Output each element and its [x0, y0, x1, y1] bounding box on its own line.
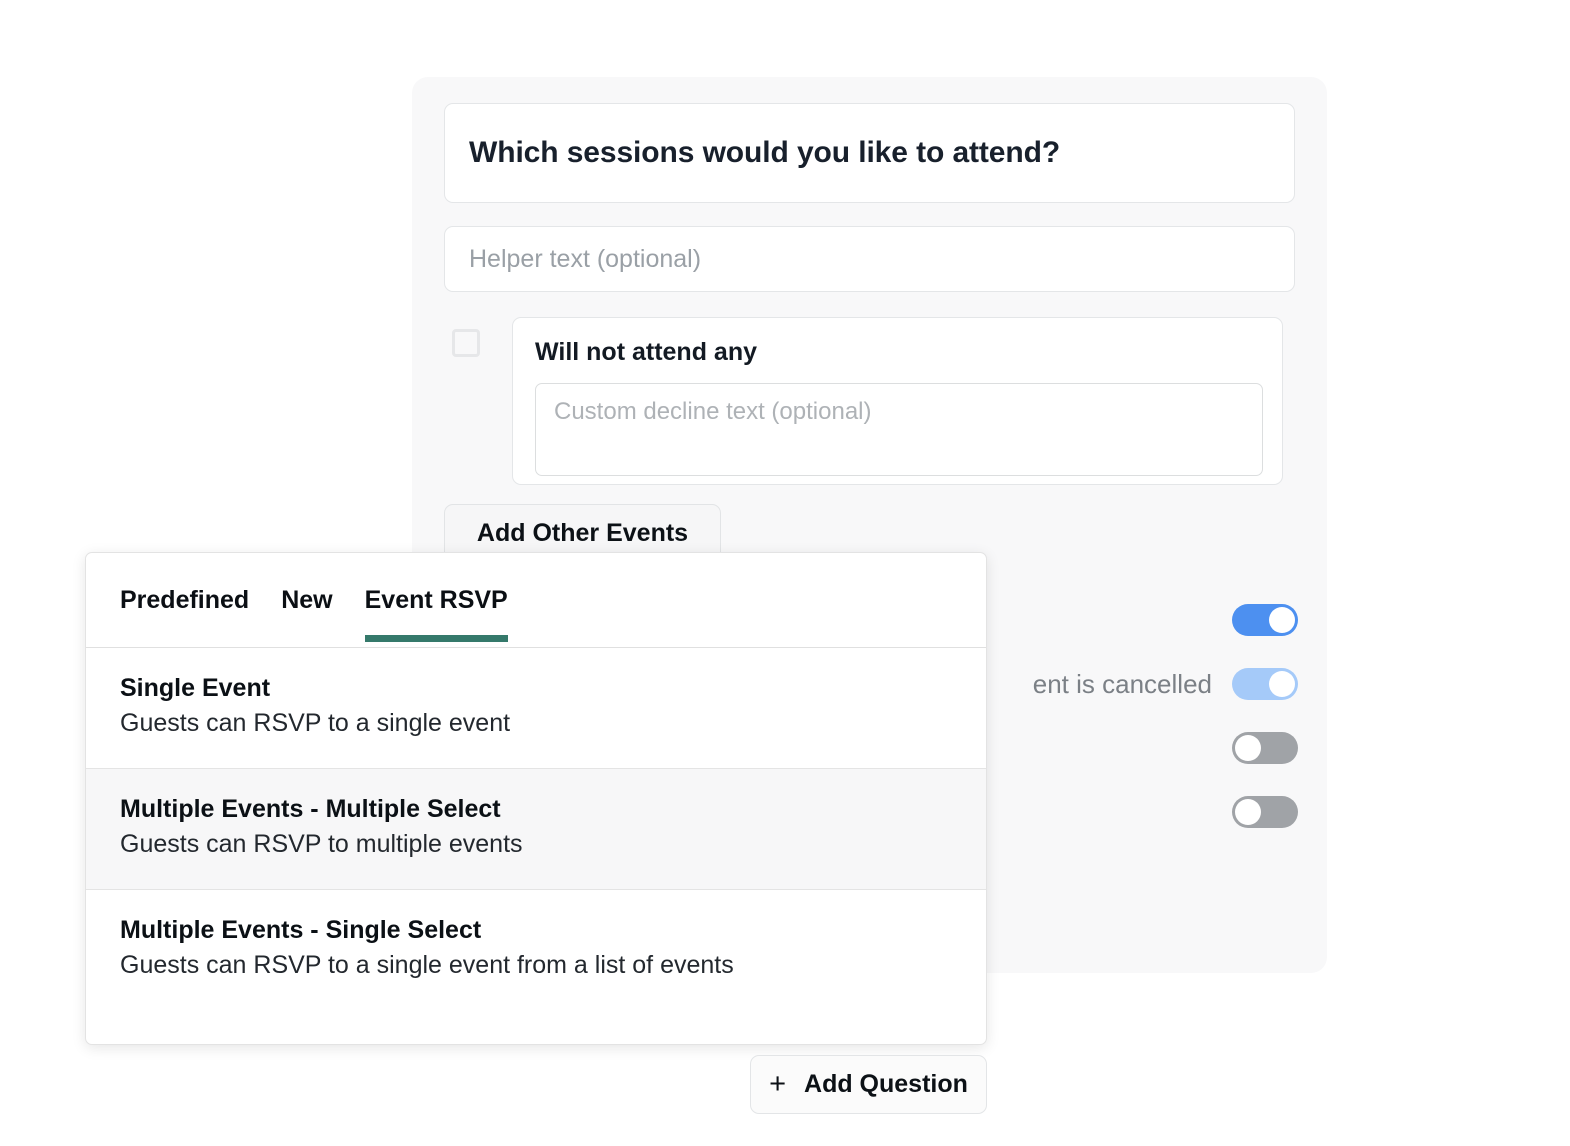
option-description: Guests can RSVP to a single event	[120, 709, 952, 738]
option-title: Multiple Events - Single Select	[120, 916, 952, 945]
add-question-button[interactable]: + Add Question	[750, 1055, 987, 1114]
toggle-knob	[1269, 607, 1295, 633]
option-multiple-events-multiple-select[interactable]: Multiple Events - Multiple Select Guests…	[86, 769, 986, 890]
custom-decline-text-input[interactable]: Custom decline text (optional)	[535, 383, 1263, 476]
option-title: Single Event	[120, 674, 952, 703]
question-title-input[interactable]: Which sessions would you like to attend?	[444, 103, 1295, 203]
tab-new-label: New	[281, 586, 332, 615]
option-single-event[interactable]: Single Event Guests can RSVP to a single…	[86, 648, 986, 769]
tab-predefined-label: Predefined	[120, 586, 249, 615]
question-type-dropdown: Predefined New Event RSVP Single Event G…	[85, 552, 987, 1045]
tab-new[interactable]: New	[281, 553, 332, 648]
setting-label-2: ent is cancelled	[1033, 669, 1212, 700]
decline-option-label: Will not attend any	[535, 338, 1260, 367]
add-question-label: Add Question	[804, 1070, 968, 1099]
toggle-knob	[1269, 671, 1295, 697]
setting-toggle-1[interactable]	[1232, 604, 1298, 636]
custom-decline-text-placeholder: Custom decline text (optional)	[554, 398, 871, 425]
option-title: Multiple Events - Multiple Select	[120, 795, 952, 824]
decline-option-row: Will not attend any Custom decline text …	[444, 317, 1295, 487]
add-other-events-label: Add Other Events	[477, 519, 688, 548]
plus-icon: +	[769, 1070, 786, 1099]
tab-event-rsvp-label: Event RSVP	[365, 586, 508, 615]
dropdown-tabs: Predefined New Event RSVP	[86, 553, 986, 648]
setting-toggle-3[interactable]	[1232, 732, 1298, 764]
helper-text-input[interactable]: Helper text (optional)	[444, 226, 1295, 292]
question-title-text: Which sessions would you like to attend?	[469, 136, 1060, 170]
option-description: Guests can RSVP to multiple events	[120, 830, 952, 859]
option-multiple-events-single-select[interactable]: Multiple Events - Single Select Guests c…	[86, 890, 986, 1010]
toggle-knob	[1235, 799, 1261, 825]
helper-text-placeholder: Helper text (optional)	[469, 245, 701, 274]
tab-predefined[interactable]: Predefined	[120, 553, 249, 648]
toggle-knob	[1235, 735, 1261, 761]
option-description: Guests can RSVP to a single event from a…	[120, 951, 952, 980]
setting-toggle-2[interactable]	[1232, 668, 1298, 700]
decline-option-box: Will not attend any Custom decline text …	[512, 317, 1283, 485]
setting-toggle-4[interactable]	[1232, 796, 1298, 828]
decline-checkbox[interactable]	[452, 329, 480, 357]
tab-event-rsvp[interactable]: Event RSVP	[365, 553, 508, 648]
app-canvas: Which sessions would you like to attend?…	[0, 0, 1570, 1146]
